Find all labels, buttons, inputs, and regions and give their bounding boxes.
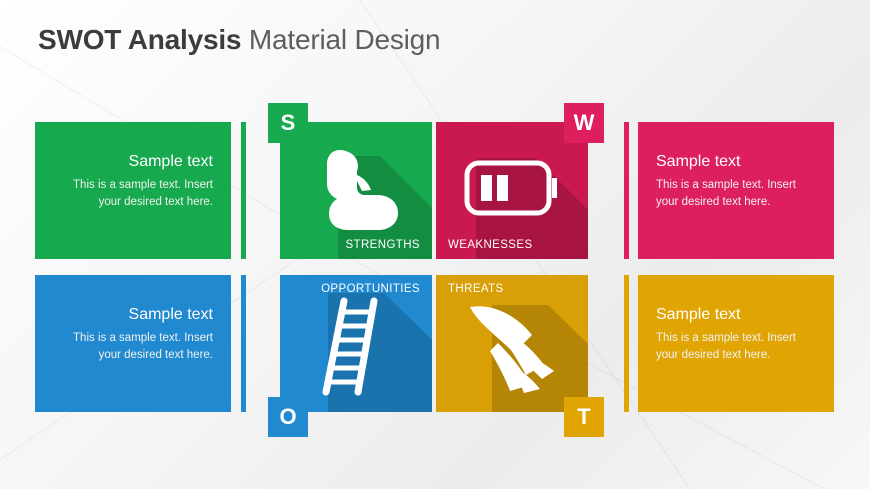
text-panel-strengths[interactable]: Sample text This is a sample text. Inser… — [35, 122, 231, 259]
icon-tile-threats[interactable]: THREATS — [436, 275, 588, 412]
title-strong: SWOT Analysis — [38, 24, 241, 55]
title-light: Material Design — [249, 24, 441, 55]
badge-strengths[interactable]: S — [268, 103, 308, 143]
ladder-icon — [318, 295, 392, 399]
panel-heading: Sample text — [656, 152, 816, 172]
panel-body: This is a sample text. Insert your desir… — [53, 177, 213, 210]
low-battery-icon — [464, 158, 564, 218]
text-panel-threats[interactable]: Sample text This is a sample text. Inser… — [638, 275, 834, 412]
rocket-icon — [462, 301, 568, 397]
slide-title: SWOT Analysis Material Design — [38, 24, 440, 56]
tile-label-weaknesses: WEAKNESSES — [448, 239, 533, 251]
separator-bar-threats — [624, 275, 629, 412]
panel-heading: Sample text — [53, 152, 213, 172]
panel-heading: Sample text — [53, 305, 213, 325]
badge-letter: T — [577, 404, 590, 430]
panel-body: This is a sample text. Insert your desir… — [656, 177, 816, 210]
panel-heading: Sample text — [656, 305, 816, 325]
text-panel-weaknesses[interactable]: Sample text This is a sample text. Inser… — [638, 122, 834, 259]
tile-label-threats: THREATS — [448, 283, 504, 295]
text-panel-opportunities[interactable]: Sample text This is a sample text. Inser… — [35, 275, 231, 412]
tile-label-opportunities: OPPORTUNITIES — [321, 283, 420, 295]
separator-bar-opportunities — [241, 275, 246, 412]
separator-bar-weaknesses — [624, 122, 629, 259]
badge-letter: S — [281, 110, 296, 136]
panel-body: This is a sample text. Insert your desir… — [656, 330, 816, 363]
badge-opportunities[interactable]: O — [268, 397, 308, 437]
flexed-bicep-icon — [310, 144, 406, 232]
badge-threats[interactable]: T — [564, 397, 604, 437]
badge-weaknesses[interactable]: W — [564, 103, 604, 143]
badge-letter: O — [279, 404, 296, 430]
swot-slide: SWOT Analysis Material Design Sample tex… — [0, 0, 870, 489]
badge-letter: W — [574, 110, 595, 136]
icon-tile-opportunities[interactable]: OPPORTUNITIES — [280, 275, 432, 412]
tile-label-strengths: STRENGTHS — [345, 239, 420, 251]
panel-body: This is a sample text. Insert your desir… — [53, 330, 213, 363]
separator-bar-strengths — [241, 122, 246, 259]
